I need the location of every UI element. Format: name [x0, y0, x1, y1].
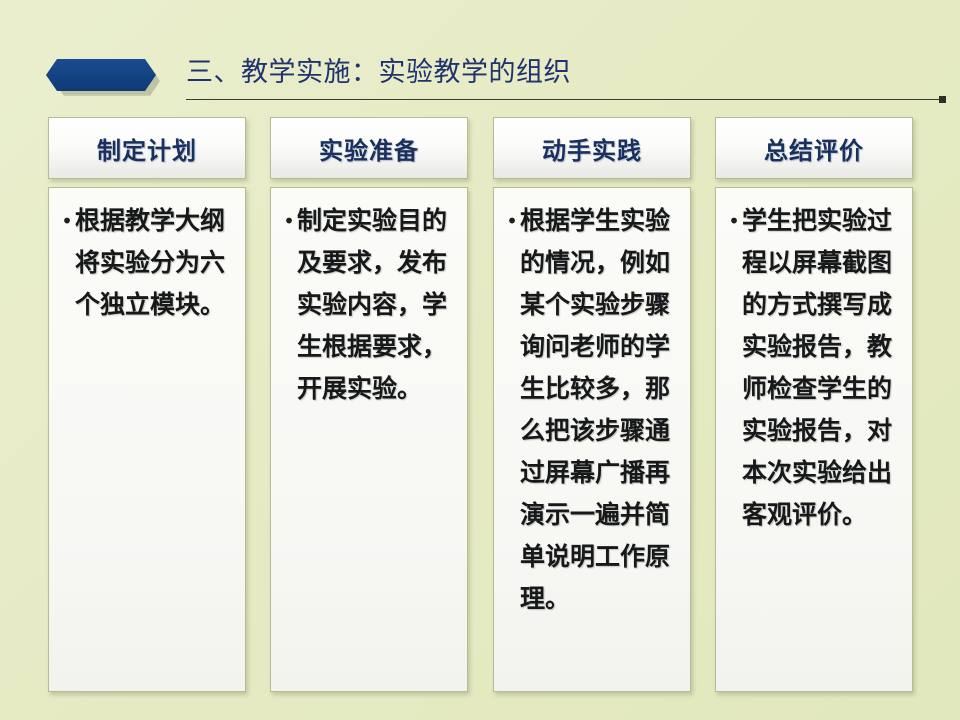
- card-evaluation-body: • 学生把实验过程以屏幕截图的方式撰写成实验报告，教师检查学生的实验报告，对本次…: [715, 187, 913, 692]
- card-preparation-body: • 制定实验目的及要求，发布实验内容，学生根据要求，开展实验。: [270, 187, 468, 692]
- bullet-icon: •: [726, 200, 742, 242]
- list-item: • 根据教学大纲将实验分为六个独立模块。: [59, 200, 237, 326]
- bullet-icon: •: [281, 200, 297, 242]
- card-plan-body: • 根据教学大纲将实验分为六个独立模块。: [48, 187, 246, 692]
- title-divider-line: [186, 99, 942, 100]
- title-banner-shape: [46, 59, 156, 91]
- title-divider-end-dot-icon: [939, 96, 946, 103]
- card-plan-body-text: 根据教学大纲将实验分为六个独立模块。: [75, 200, 237, 326]
- slide-canvas: 三、教学实施：实验教学的组织 制定计划 • 根据教学大纲将实验分为六个独立模块。…: [0, 0, 960, 720]
- bullet-icon: •: [59, 200, 75, 242]
- card-preparation[interactable]: 实验准备 • 制定实验目的及要求，发布实验内容，学生根据要求，开展实验。: [270, 117, 468, 692]
- card-evaluation-header: 总结评价: [715, 117, 913, 179]
- card-preparation-body-text: 制定实验目的及要求，发布实验内容，学生根据要求，开展实验。: [297, 200, 459, 410]
- list-item: • 学生把实验过程以屏幕截图的方式撰写成实验报告，教师检查学生的实验报告，对本次…: [726, 200, 904, 536]
- card-evaluation-header-label: 总结评价: [764, 131, 864, 166]
- card-evaluation[interactable]: 总结评价 • 学生把实验过程以屏幕截图的方式撰写成实验报告，教师检查学生的实验报…: [715, 117, 913, 692]
- card-plan-header-label: 制定计划: [97, 131, 197, 166]
- card-practice-body: • 根据学生实验的情况，例如某个实验步骤询问老师的学生比较多，那么把该步骤通过屏…: [493, 187, 691, 692]
- slide-title-row: 三、教学实施：实验教学的组织: [0, 0, 960, 110]
- card-practice-header: 动手实践: [493, 117, 691, 179]
- card-preparation-header-label: 实验准备: [319, 131, 419, 166]
- list-item: • 制定实验目的及要求，发布实验内容，学生根据要求，开展实验。: [281, 200, 459, 410]
- card-evaluation-body-text: 学生把实验过程以屏幕截图的方式撰写成实验报告，教师检查学生的实验报告，对本次实验…: [742, 200, 904, 536]
- page-title: 三、教学实施：实验教学的组织: [186, 56, 571, 90]
- list-item: • 根据学生实验的情况，例如某个实验步骤询问老师的学生比较多，那么把该步骤通过屏…: [504, 200, 682, 620]
- card-practice-body-text: 根据学生实验的情况，例如某个实验步骤询问老师的学生比较多，那么把该步骤通过屏幕广…: [520, 200, 682, 620]
- card-practice-header-label: 动手实践: [542, 131, 642, 166]
- card-plan[interactable]: 制定计划 • 根据教学大纲将实验分为六个独立模块。: [48, 117, 246, 692]
- bullet-icon: •: [504, 200, 520, 242]
- card-preparation-header: 实验准备: [270, 117, 468, 179]
- card-plan-header: 制定计划: [48, 117, 246, 179]
- card-practice[interactable]: 动手实践 • 根据学生实验的情况，例如某个实验步骤询问老师的学生比较多，那么把该…: [493, 117, 691, 692]
